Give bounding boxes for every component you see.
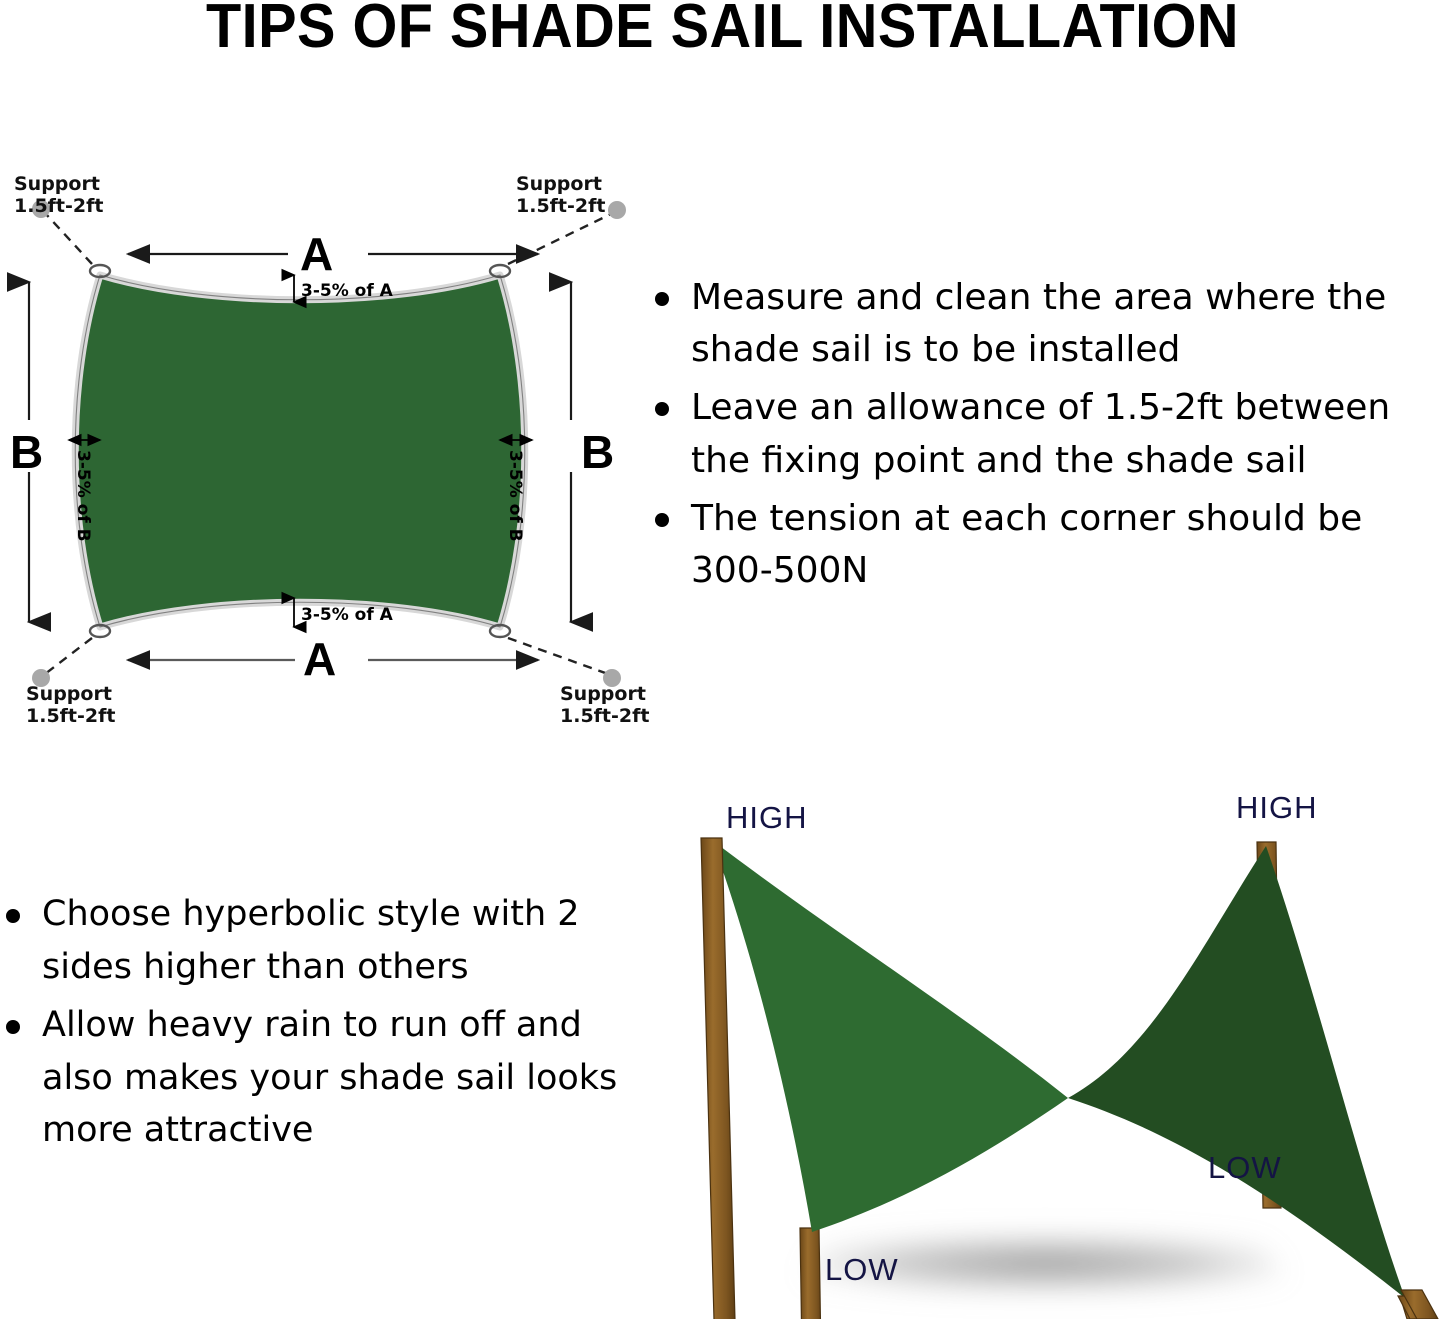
- label-post-right-high: HIGH: [1236, 790, 1318, 825]
- page-title: TIPS OF SHADE SAIL INSTALLATION: [51, 0, 1395, 59]
- list-item: Leave an allowance of 1.5-2ft between th…: [645, 382, 1445, 486]
- bullet-dot-icon: [6, 1020, 20, 1034]
- support-dot-top-right: [608, 201, 626, 219]
- bullet-text: The tension at each corner should be 300…: [691, 498, 1362, 591]
- dim-b-right-label: B: [581, 426, 614, 478]
- top-bullet-list-container: Measure and clean the area where the sha…: [645, 272, 1445, 603]
- bullet-dot-icon: [655, 513, 669, 527]
- support-label-bottom-left-line1: Support: [26, 683, 112, 705]
- label-post-left-high: HIGH: [726, 800, 808, 835]
- label-post-right-low-overlay: LOW: [1208, 1150, 1282, 1186]
- support-label-bottom-right-line2: 1.5ft-2ft: [560, 705, 649, 727]
- curve-label-left-text: 3-5% of B: [73, 450, 93, 542]
- list-item: The tension at each corner should be 300…: [645, 493, 1445, 597]
- support-label-bottom-left-line2: 1.5ft-2ft: [26, 705, 115, 727]
- bullet-text: Leave an allowance of 1.5-2ft between th…: [691, 387, 1390, 480]
- support-label-top-right-line2: 1.5ft-2ft: [516, 195, 605, 217]
- tie-line-bottom-right: [508, 638, 608, 674]
- list-item: Choose hyperbolic style with 2 sides hig…: [0, 888, 640, 993]
- bottom-diagram-container: HIGH HIGH LOW LOW LOW: [660, 780, 1445, 1319]
- dimension-b-left: B: [10, 282, 43, 622]
- bullet-dot-icon: [655, 292, 669, 306]
- label-post-left-low: LOW: [825, 1252, 899, 1287]
- support-label-top-right-line1: Support: [516, 173, 602, 195]
- shade-sail-shape: [75, 275, 525, 627]
- list-item: Allow heavy rain to run off and also mak…: [0, 999, 640, 1157]
- sail-panel-front: [712, 840, 1068, 1232]
- curve-label-right-text: 3-5% of B: [505, 450, 525, 542]
- support-label-top-left-line1: Support: [14, 173, 100, 195]
- tie-line-top-left: [45, 213, 92, 264]
- bullet-text: Allow heavy rain to run off and also mak…: [42, 1005, 617, 1150]
- bullet-text: Measure and clean the area where the sha…: [691, 277, 1386, 370]
- bullet-dot-icon: [655, 402, 669, 416]
- top-bullet-list: Measure and clean the area where the sha…: [645, 272, 1445, 597]
- support-label-top-left-line2: 1.5ft-2ft: [14, 195, 103, 217]
- dim-a-top-label: A: [300, 228, 333, 280]
- tie-line-top-right: [508, 213, 613, 264]
- dim-a-bottom-label: A: [303, 633, 336, 685]
- dim-b-left-label: B: [10, 426, 43, 478]
- bottom-bullet-list: Choose hyperbolic style with 2 sides hig…: [0, 888, 640, 1157]
- curve-label-bottom-text: 3-5% of A: [301, 605, 394, 625]
- dimension-a-bottom: A: [128, 633, 538, 685]
- list-item: Measure and clean the area where the sha…: [645, 272, 1445, 376]
- dimension-b-right: B: [571, 282, 614, 622]
- top-diagram-container: Support 1.5ft-2ft Support 1.5ft-2ft Supp…: [0, 150, 700, 740]
- bottom-bullet-list-container: Choose hyperbolic style with 2 sides hig…: [0, 888, 640, 1163]
- support-label-bottom-right-line1: Support: [560, 683, 646, 705]
- post-left-low: [800, 1228, 822, 1319]
- sail-fill: [75, 275, 525, 627]
- sail-panel-back: [1068, 846, 1405, 1298]
- post-left-high: [701, 838, 735, 1319]
- tie-line-bottom-left: [45, 638, 92, 674]
- bullet-text: Choose hyperbolic style with 2 sides hig…: [42, 894, 580, 987]
- bullet-dot-icon: [6, 909, 20, 923]
- dimension-a-top: A: [128, 228, 538, 280]
- curve-label-top-text: 3-5% of A: [301, 281, 394, 301]
